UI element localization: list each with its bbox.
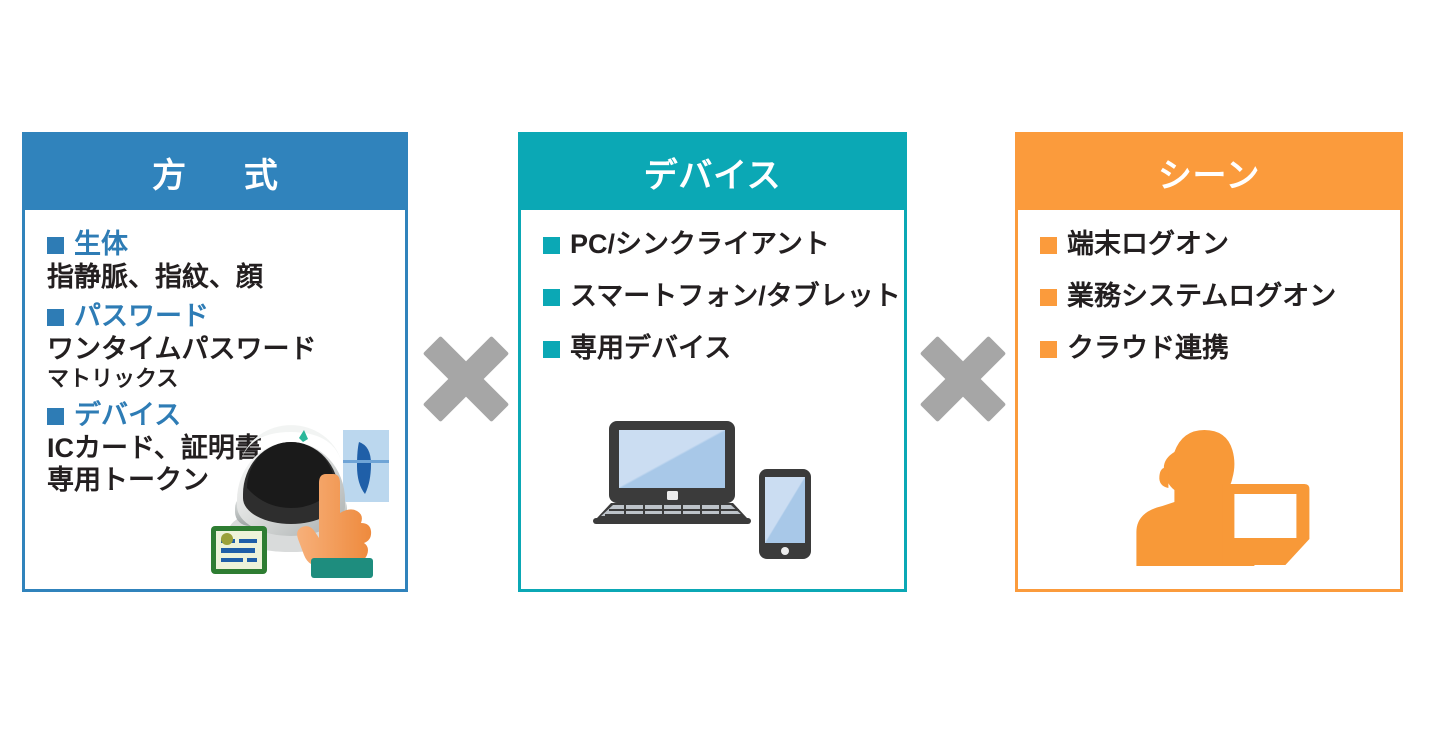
multiply-operator-icon (423, 336, 509, 422)
list-item-heading: PC/シンクライアント (570, 229, 830, 259)
list-item-heading: 専用デバイス (570, 333, 731, 363)
multiply-operator-icon (920, 336, 1006, 422)
bullet-square-icon (47, 309, 64, 326)
scene-list: 端末ログオン 業務システムログオン クラウド連携 (1040, 228, 1400, 365)
list-item: 生体 指静脈、指紋、顔 (47, 228, 405, 294)
bullet-square-icon (543, 237, 560, 254)
bullet-square-icon (1040, 341, 1057, 358)
panel-device-title: デバイス (521, 135, 904, 210)
fingerprint-card-icon (343, 430, 389, 502)
list-item-detail: 指静脈、指紋、顔 (47, 261, 263, 294)
person-with-monitor-icon (1112, 422, 1322, 577)
list-item-heading: デバイス (74, 400, 181, 430)
list-item-detail: ワンタイムパスワード (47, 333, 316, 366)
panel-method-title: 方 式 (25, 135, 405, 210)
tablet-icon (759, 469, 811, 559)
laptop-and-tablet-icon (587, 411, 839, 571)
panel-device: デバイス PC/シンクライアント スマートフォン/タブレット (518, 132, 907, 592)
laptop-icon (593, 421, 751, 524)
list-item-heading: パスワード (74, 301, 209, 331)
ic-chip-icon (211, 526, 267, 574)
bullet-square-icon (543, 289, 560, 306)
bullet-square-icon (543, 341, 560, 358)
bullet-square-icon (1040, 289, 1057, 306)
list-item-texts: 専用デバイス (570, 332, 731, 365)
list-item-heading: スマートフォン/タブレット (570, 281, 901, 311)
list-item: パスワード ワンタイムパスワード マトリックス (47, 300, 405, 393)
list-item-heading: 端末ログオン (1067, 229, 1229, 259)
list-item: スマートフォン/タブレット (543, 280, 904, 313)
panel-scene-title: シーン (1018, 135, 1400, 210)
bullet-square-icon (47, 408, 64, 425)
panel-device-body: PC/シンクライアント スマートフォン/タブレット 専用デバイス (521, 210, 904, 589)
list-item: PC/シンクライアント (543, 228, 904, 261)
monitor-icon (1222, 484, 1309, 565)
list-item-texts: 業務システムログオン (1067, 280, 1336, 313)
panel-scene: シーン 端末ログオン 業務システムログオン (1015, 132, 1403, 592)
panel-method: 方 式 生体 指静脈、指紋、顔 パスワード ワンタイムパスワード マトリックス (22, 132, 408, 592)
bullet-square-icon (1040, 237, 1057, 254)
list-item-detail: マトリックス (47, 366, 316, 393)
list-item-texts: 生体 指静脈、指紋、顔 (74, 228, 263, 294)
list-item: 業務システムログオン (1040, 280, 1400, 313)
list-item-texts: 端末ログオン (1067, 228, 1229, 261)
list-item: 専用デバイス (543, 332, 904, 365)
list-item-texts: スマートフォン/タブレット (570, 280, 901, 313)
panel-method-body: 生体 指静脈、指紋、顔 パスワード ワンタイムパスワード マトリックス (25, 210, 405, 589)
biometric-scanner-icon (207, 408, 399, 583)
diagram-canvas: 方 式 生体 指静脈、指紋、顔 パスワード ワンタイムパスワード マトリックス (0, 0, 1430, 730)
list-item-heading: 業務システムログオン (1067, 281, 1336, 311)
list-item-heading: クラウド連携 (1067, 333, 1229, 363)
bullet-square-icon (47, 237, 64, 254)
list-item-heading: 生体 (74, 229, 128, 259)
list-item: クラウド連携 (1040, 332, 1400, 365)
list-item-texts: PC/シンクライアント (570, 228, 830, 261)
panel-scene-body: 端末ログオン 業務システムログオン クラウド連携 (1018, 210, 1400, 589)
list-item-texts: クラウド連携 (1067, 332, 1229, 365)
list-item-texts: パスワード ワンタイムパスワード マトリックス (74, 300, 316, 393)
list-item: 端末ログオン (1040, 228, 1400, 261)
device-list: PC/シンクライアント スマートフォン/タブレット 専用デバイス (543, 228, 904, 365)
